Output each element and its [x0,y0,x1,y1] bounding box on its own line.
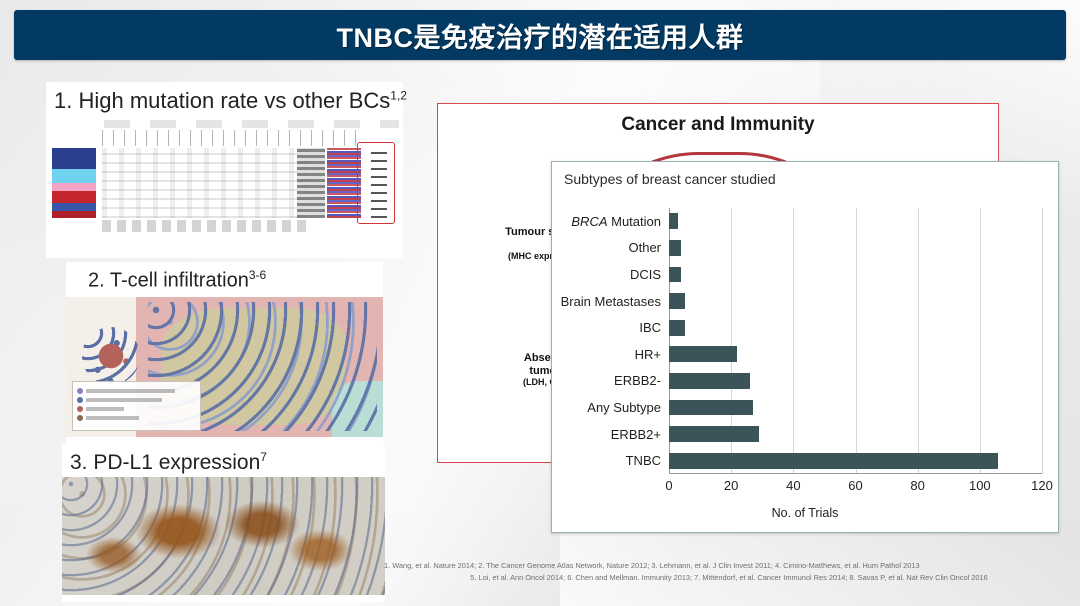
oncoprint-subtype-bar [52,148,96,218]
chart-bar [669,293,685,309]
chart-bars: BRCA MutationOtherDCISBrain MetastasesIB… [669,208,1042,474]
oncoprint-copy-number-block [327,148,361,218]
chart-bar-row: ERBB2+ [669,421,1042,448]
left-card-mutation-rate: 1. High mutation rate vs other BCs1,2 [46,82,403,258]
chart-category-label: HR+ [635,347,661,362]
left-card-tcell-heading: 2. T-cell infiltration3-6 [66,262,383,295]
chart-bar-row: BRCA Mutation [669,208,1042,235]
chart-bar [669,426,759,442]
oncoprint-footer-band [102,220,307,232]
chart-category-label: IBC [639,320,661,335]
chart-bar [669,346,737,362]
chart-category-label: ERBB2- [614,373,661,388]
chart-bar-row: ERBB2- [669,368,1042,395]
oncoprint-clinical-data-block [297,148,325,218]
chart-category-label: Brain Metastases [561,294,661,309]
oncoprint-highlight-box [357,142,395,224]
left-card-pdl1-expression: 3. PD-L1 expression7 [62,444,385,602]
chart-bar-row: DCIS [669,261,1042,288]
chart-bar [669,453,998,469]
chart-x-tick: 120 [1031,478,1053,493]
chart-bar [669,320,685,336]
left-card-pdl1-label: PD-L1 expression [93,451,260,474]
chart-bar-row: Brain Metastases [669,288,1042,315]
left-card-mutation-heading: 1. High mutation rate vs other BCs1,2 [46,82,403,116]
ihc-photomicrograph-figure [62,477,385,595]
til-tertiary-lymphoid-structure [82,327,140,385]
oncoprint-mutation-matrix [102,148,307,218]
left-card-pdl1-number: 3. [70,451,88,474]
left-card-mutation-sup: 1,2 [390,89,407,103]
oncoprint-header-band [104,120,399,128]
footnote-line-1: 1. Wang, et al. Nature 2014; 2. The Canc… [384,560,1074,572]
chart-bar-row: HR+ [669,341,1042,368]
til-legend-box [72,381,201,431]
chart-bar [669,267,681,283]
chart-category-label: BRCA Mutation [571,214,661,229]
left-card-pdl1-sup: 7 [260,450,267,464]
chart-title: Subtypes of breast cancer studied [552,162,1058,187]
left-card-tcell-sup: 3-6 [249,268,266,282]
left-card-pdl1-heading: 3. PD-L1 expression7 [62,444,385,477]
left-card-tcell-label: T-cell infiltration [110,270,249,292]
chart-bar [669,213,678,229]
chart-x-tick: 80 [910,478,924,493]
left-card-tcell-infiltration: 2. T-cell infiltration3-6 [66,262,383,444]
chart-x-tick-labels: 020406080100120 [669,478,1042,496]
til-schematic-figure [66,297,383,437]
chart-x-tick: 40 [786,478,800,493]
chart-category-label: Any Subtype [587,400,661,415]
footnote: 1. Wang, et al. Nature 2014; 2. The Canc… [384,560,1074,584]
chart-bar [669,400,753,416]
chart-x-tick: 60 [848,478,862,493]
left-card-mutation-label: High mutation rate vs other BCs [78,88,390,113]
page-title: TNBC是免疫治疗的潜在适用人群 [337,16,744,55]
chart-category-label: Other [628,240,661,255]
cancer-immunity-title: Cancer and Immunity [438,114,998,136]
chart-category-label: DCIS [630,267,661,282]
left-card-mutation-number: 1. [54,88,72,113]
subtypes-bar-chart-card: Subtypes of breast cancer studied BRCA M… [551,161,1059,533]
oncoprint-heatmap-figure [46,116,403,234]
chart-x-tick: 100 [969,478,991,493]
chart-x-tick: 0 [665,478,672,493]
footnote-line-2: 5. Loi, et al. Ann Oncol 2014; 6. Chen a… [384,572,1074,584]
chart-bar [669,373,750,389]
chart-x-tick: 20 [724,478,738,493]
oncoprint-gene-ticks [102,130,363,146]
slide-title-bar: TNBC是免疫治疗的潜在适用人群 [14,10,1066,60]
chart-gridline [1042,208,1043,474]
chart-bar-row: Any Subtype [669,394,1042,421]
chart-category-label: TNBC [626,453,661,468]
chart-bar-row: Other [669,235,1042,262]
chart-x-axis-label: No. of Trials [552,506,1058,520]
chart-bar [669,240,681,256]
chart-category-label: ERBB2+ [611,427,661,442]
left-card-tcell-number: 2. [88,270,105,292]
chart-bar-row: IBC [669,314,1042,341]
chart-plot-area: BRCA MutationOtherDCISBrain MetastasesIB… [669,208,1042,474]
chart-bar-row: TNBC [669,447,1042,474]
